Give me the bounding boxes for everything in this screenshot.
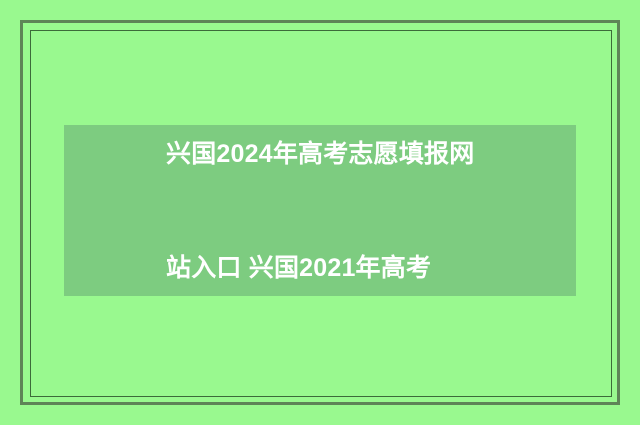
headline-line-1: 兴国2024年高考志愿填报网 (166, 135, 546, 173)
content-panel: 兴国2024年高考志愿填报网 站入口 兴国2021年高考 (64, 125, 576, 296)
poster-canvas: 兴国2024年高考志愿填报网 站入口 兴国2021年高考 (0, 0, 640, 425)
headline-line-2: 站入口 兴国2021年高考 (166, 249, 546, 287)
headline-text-block: 兴国2024年高考志愿填报网 站入口 兴国2021年高考 (64, 59, 576, 363)
